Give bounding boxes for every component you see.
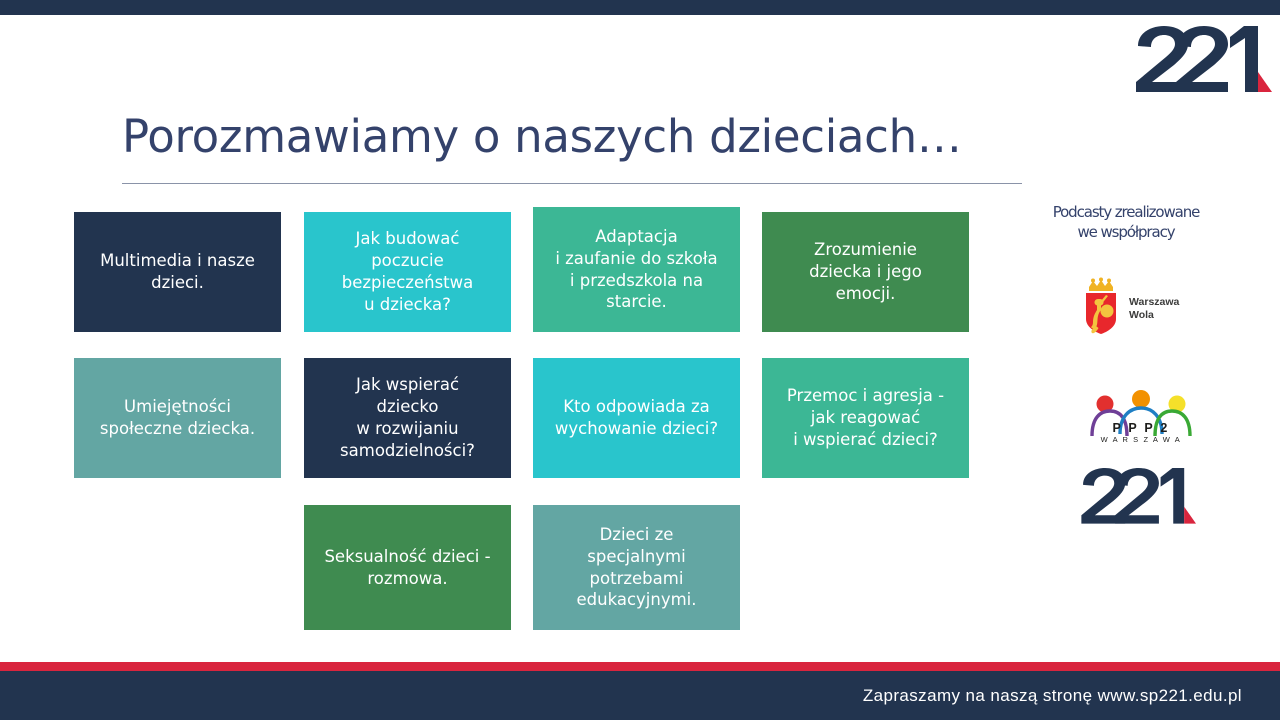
title-divider xyxy=(122,183,1022,184)
topic-tile[interactable]: Kto odpowiada za wychowanie dzieci? xyxy=(533,358,740,478)
sp221-logo-header xyxy=(1132,24,1272,92)
topic-tile[interactable]: Seksualność dzieci - rozmowa. xyxy=(304,505,511,630)
topic-tile[interactable]: Jak budować poczucie bezpieczeństwa u dz… xyxy=(304,212,511,332)
footer-accent-bar xyxy=(0,662,1280,671)
topic-tile[interactable]: Przemoc i agresja - jak reagować i wspie… xyxy=(762,358,969,478)
warszawa-wola-logo: Warszawa Wola xyxy=(1073,277,1203,335)
wola-logo-line2: Wola xyxy=(1129,309,1154,321)
page-title: Porozmawiamy o naszych dzieciach… xyxy=(122,110,1022,163)
slide-canvas: Porozmawiamy o naszych dzieciach… Multim… xyxy=(0,0,1280,720)
topic-tile[interactable]: Dzieci ze specjalnymi potrzebami edukacy… xyxy=(533,505,740,630)
ppp2-logo-line2: W A R S Z A W A xyxy=(1101,435,1182,444)
partners-caption: Podcasty zrealizowane we współpracy xyxy=(1012,203,1240,242)
ppp2-warszawa-logo: P P P 2 W A R S Z A W A xyxy=(1090,390,1192,444)
wola-logo-line1: Warszawa xyxy=(1129,296,1180,308)
ppp2-logo-line1: P P P 2 xyxy=(1112,421,1169,435)
sp221-logo-sidebar xyxy=(1078,466,1196,524)
topic-tile[interactable]: Adaptacja i zaufanie do szkoła i przedsz… xyxy=(533,207,740,332)
topic-tile[interactable]: Multimedia i nasze dzieci. xyxy=(74,212,281,332)
header-bar xyxy=(0,0,1280,15)
footer-text: Zapraszamy na naszą stronę www.sp221.edu… xyxy=(863,686,1242,706)
topic-tile[interactable]: Umiejętności społeczne dziecka. xyxy=(74,358,281,478)
topic-tile[interactable]: Jak wspierać dziecko w rozwijaniu samodz… xyxy=(304,358,511,478)
topic-tile[interactable]: Zrozumienie dziecka i jego emocji. xyxy=(762,212,969,332)
